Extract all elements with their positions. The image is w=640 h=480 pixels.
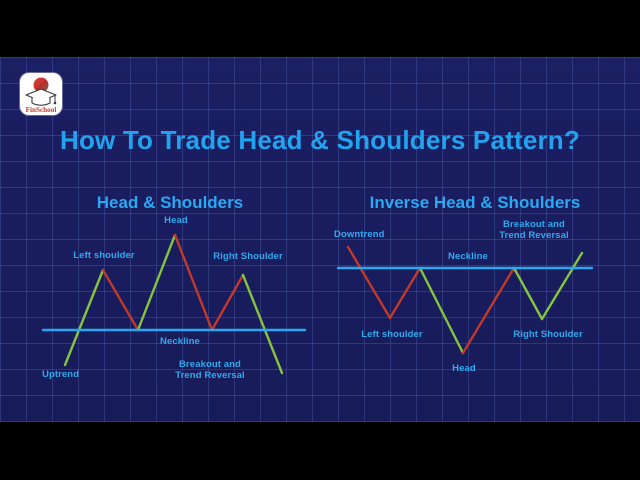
panel-head-and-shoulders: Head & Shoulders Left shoulderHeadRight … (20, 193, 320, 393)
letterbox-top (0, 0, 640, 57)
panel-inverse-head-and-shoulders: Inverse Head & Shoulders DowntrendNeckli… (320, 193, 630, 393)
head-decline (175, 235, 212, 330)
downtrend-decline (348, 247, 390, 318)
blueprint-canvas: FinSchool How To Trade Head & Shoulders … (0, 57, 640, 422)
right-shoulder-label: Right Shoulder (513, 329, 582, 340)
left-shoulder-rise (390, 268, 420, 318)
uptrend-rise-to-left-shoulder (65, 270, 103, 365)
head-label: Head (164, 215, 188, 226)
left-shoulder-label: Left shoulder (361, 329, 422, 340)
right-shoulder-decline (514, 268, 542, 319)
head-label: Head (452, 363, 476, 374)
svg-text:FinSchool: FinSchool (26, 106, 57, 114)
screenshot-stage: FinSchool How To Trade Head & Shoulders … (0, 0, 640, 480)
rise-from-head (463, 268, 514, 353)
page-title: How To Trade Head & Shoulders Pattern? (0, 125, 640, 156)
downtrend-label: Downtrend (334, 229, 385, 240)
breakout-label: Breakout and Trend Reversal (499, 219, 569, 241)
left-shoulder-label: Left shoulder (73, 250, 134, 261)
letterbox-bottom (0, 422, 640, 480)
rise-to-head (138, 235, 175, 330)
left-shoulder-decline (103, 270, 138, 330)
breakout-label: Breakout and Trend Reversal (175, 359, 245, 381)
graduation-cap-logo-icon: FinSchool (20, 73, 62, 115)
breakout-rise (542, 253, 582, 319)
right-shoulder-label: Right Shoulder (213, 251, 282, 262)
neckline-label: Neckline (160, 336, 200, 347)
rise-to-right-shoulder (212, 275, 243, 330)
decline-to-head (420, 268, 463, 353)
finschool-logo[interactable]: FinSchool (20, 73, 62, 115)
uptrend-label: Uptrend (42, 369, 79, 380)
breakout-decline (243, 275, 282, 373)
neckline-label: Neckline (448, 251, 488, 262)
